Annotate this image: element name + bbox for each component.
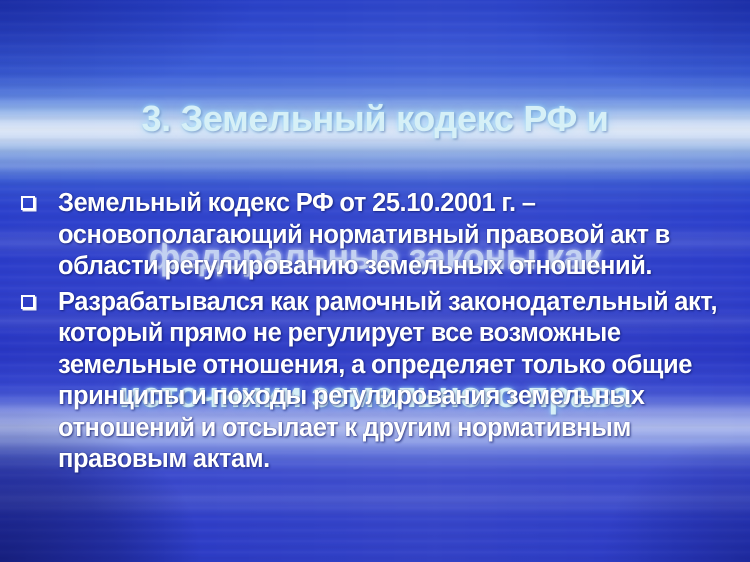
- square-outline-bullet-icon: [21, 196, 35, 210]
- square-outline-bullet-icon: [21, 295, 35, 309]
- presentation-slide: 3. Земельный кодекс РФ и федеральные зак…: [0, 0, 750, 562]
- bullet-item-2-text: Разрабатывался как рамочный законодатель…: [58, 287, 732, 476]
- slide-bullet-list: Земельный кодекс РФ от 25.10.2001 г. – о…: [18, 188, 732, 480]
- bullet-item-1-text: Земельный кодекс РФ от 25.10.2001 г. – о…: [58, 188, 732, 283]
- slide-title-line-1: 3. Земельный кодекс РФ и: [0, 96, 750, 142]
- bullet-item-2: Разрабатывался как рамочный законодатель…: [18, 287, 732, 476]
- bullet-item-1: Земельный кодекс РФ от 25.10.2001 г. – о…: [18, 188, 732, 283]
- slide-content: 3. Земельный кодекс РФ и федеральные зак…: [0, 0, 750, 562]
